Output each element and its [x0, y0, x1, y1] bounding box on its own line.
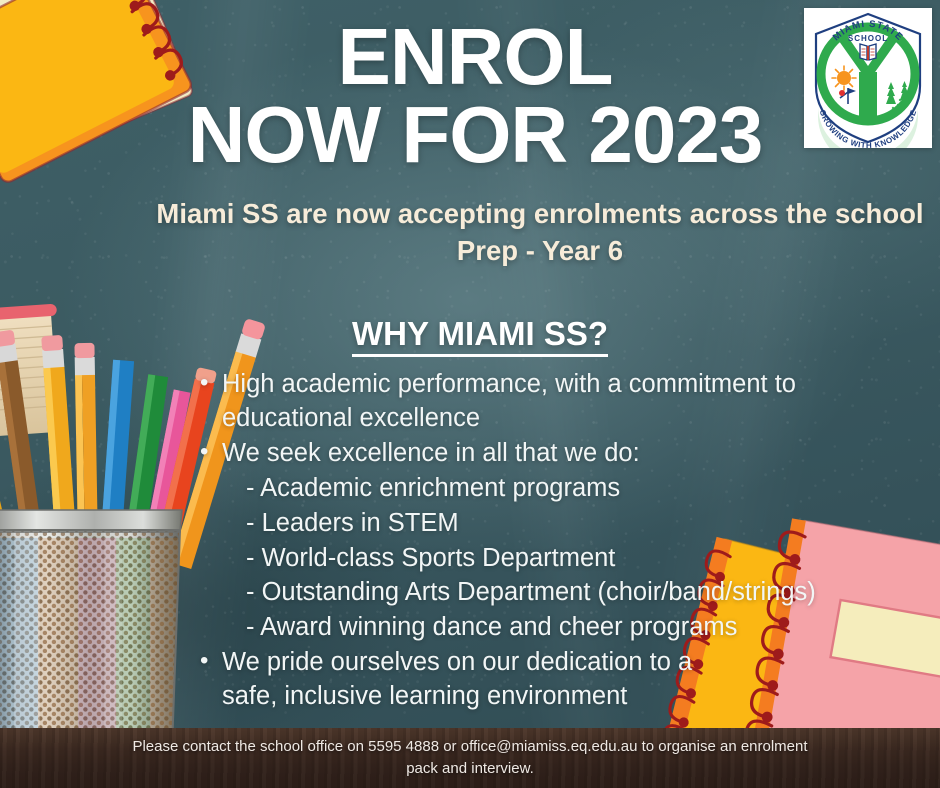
list-sub-item: - Award winning dance and cheer programs	[198, 611, 918, 645]
logo-second-text: SCHOOL	[848, 34, 888, 43]
contact-footer-text: Please contact the school office on 5595…	[120, 736, 820, 781]
benefits-list: High academic performance, with a commit…	[198, 368, 918, 715]
list-sub-item: - Leaders in STEM	[198, 507, 918, 541]
list-sub-item: - Outstanding Arts Department (choir/ban…	[198, 576, 918, 610]
list-item: High academic performance, with a commit…	[198, 368, 918, 436]
list-sub-item: - World-class Sports Department	[198, 542, 918, 576]
section-heading: WHY MIAMI SS?	[130, 315, 830, 353]
headline-line-2: NOW FOR 2023	[175, 96, 775, 174]
contact-footer-bar: Please contact the school office on 5595…	[0, 728, 940, 788]
list-item: We seek excellence in all that we do:	[198, 437, 918, 471]
list-item-text: High academic performance, with a commit…	[222, 370, 796, 398]
poster-subtitle: Miami SS are now accepting enrolments ac…	[130, 195, 940, 269]
list-item: We pride ourselves on our dedication to …	[198, 646, 918, 714]
list-sub-item: - Academic enrichment programs	[198, 472, 918, 506]
poster-headline: ENROL NOW FOR 2023	[175, 18, 775, 175]
list-item-text: We seek excellence in all that we do:	[222, 439, 640, 467]
section-heading-text: WHY MIAMI SS?	[352, 315, 608, 357]
enrolment-poster: MIAMI STATE SCHOOL GROWING WITH KNOWLEDG…	[0, 0, 940, 788]
school-logo: MIAMI STATE SCHOOL GROWING WITH KNOWLEDG…	[804, 8, 932, 148]
list-item-text-cont: safe, inclusive learning environment	[222, 682, 627, 710]
list-item-text: We pride ourselves on our dedication to …	[222, 648, 692, 676]
list-item-text-cont: educational excellence	[222, 404, 480, 432]
headline-line-1: ENROL	[175, 18, 775, 96]
